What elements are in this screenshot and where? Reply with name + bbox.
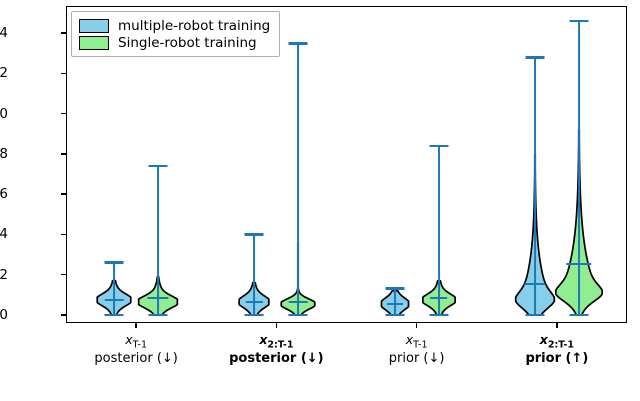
violin-whisker-cap-upper: [385, 287, 404, 290]
violin-whisker-cap-upper: [429, 145, 448, 148]
legend-label: multiple-robot training: [118, 18, 270, 34]
violin-median-line: [524, 283, 545, 285]
violin-whisker-cap-lower: [149, 314, 168, 317]
violin-median-line: [430, 297, 448, 299]
x-axis-label-text: posterior (↓): [94, 351, 178, 366]
y-axis-tick-label: 0.0: [0, 307, 8, 323]
violin-whisker-line: [438, 146, 440, 315]
violin-whisker-cap-upper: [289, 42, 308, 45]
violin-whisker-line: [578, 21, 580, 315]
y-axis-tick-label: 0.8: [0, 146, 8, 162]
y-axis-tick-label: 0.2: [0, 267, 8, 283]
violin-median-line: [147, 297, 168, 299]
chart-legend: multiple-robot trainingSingle-robot trai…: [71, 11, 280, 57]
violin-median-line: [105, 299, 123, 301]
violin-whisker-cap-lower: [429, 314, 448, 317]
violin-whisker-cap-lower: [525, 314, 544, 317]
violin-whisker-cap-upper: [569, 20, 588, 23]
violin-whisker-cap-lower: [105, 314, 124, 317]
violin-median-line: [566, 263, 592, 265]
violin-whisker-line: [113, 263, 115, 315]
y-axis-tick-label: 0.6: [0, 186, 8, 202]
violin-chart-figure: L2 (m) multiple-robot trainingSingle-rob…: [0, 0, 640, 401]
legend-item: Single-robot training: [79, 34, 270, 51]
legend-item: multiple-robot training: [79, 17, 270, 34]
x-axis-label-text: posterior (↓): [229, 351, 324, 366]
violin-whisker-cap-lower: [289, 314, 308, 317]
x-axis-label-text: prior (↓): [389, 351, 445, 366]
y-axis-tick-label: 1.0: [0, 106, 8, 122]
violin-whisker-cap-upper: [245, 233, 264, 236]
violin-whisker-cap-upper: [149, 165, 168, 168]
y-axis-tick-label: 1.4: [0, 25, 8, 41]
violin-whisker-line: [297, 43, 299, 315]
violin-whisker-cap-lower: [385, 314, 404, 317]
y-axis-tick-label: 1.2: [0, 65, 8, 81]
violin-whisker-cap-lower: [569, 314, 588, 317]
legend-swatch: [79, 19, 109, 33]
violin-whisker-line: [157, 166, 159, 315]
x-axis-label-text: prior (↑): [525, 351, 588, 366]
legend-swatch: [79, 36, 109, 50]
y-axis-tick-label: 0.4: [0, 226, 8, 242]
violin-median-line: [289, 301, 307, 303]
violin-whisker-line: [534, 57, 536, 315]
violin-whisker-cap-upper: [525, 56, 544, 59]
violin-whisker-cap-upper: [105, 261, 124, 264]
violin-median-line: [246, 301, 262, 303]
legend-label: Single-robot training: [118, 35, 257, 51]
violin-median-line: [387, 303, 403, 305]
violin-whisker-cap-lower: [245, 314, 264, 317]
